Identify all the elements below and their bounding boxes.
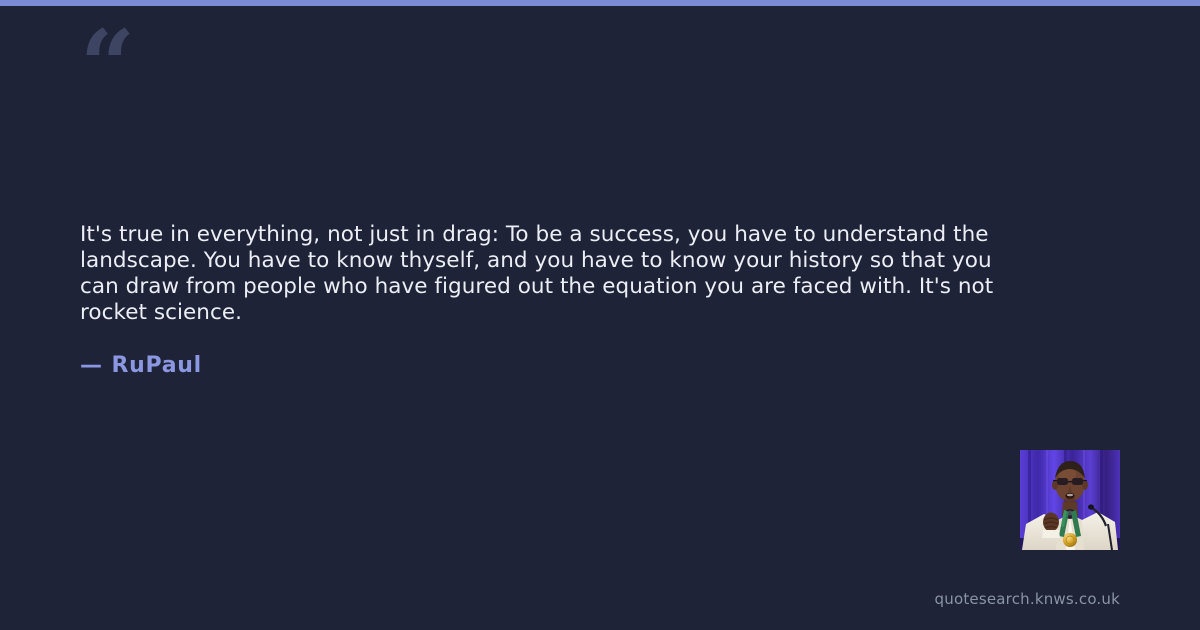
- author-portrait-image: [1020, 450, 1120, 550]
- quote-body: It's true in everything, not just in dra…: [80, 222, 1010, 326]
- author-name: RuPaul: [112, 353, 202, 378]
- author-attribution: — RuPaul: [80, 353, 202, 378]
- top-accent-bar: [0, 0, 1200, 6]
- quote-card: “ It's true in everything, not just in d…: [0, 0, 1200, 630]
- author-portrait: [1020, 450, 1120, 550]
- quote-text: It's true in everything, not just in dra…: [80, 222, 1010, 326]
- watermark: quotesearch.knws.co.uk: [935, 590, 1120, 608]
- author-dash: —: [80, 353, 103, 378]
- opening-quote-icon: “: [80, 18, 133, 114]
